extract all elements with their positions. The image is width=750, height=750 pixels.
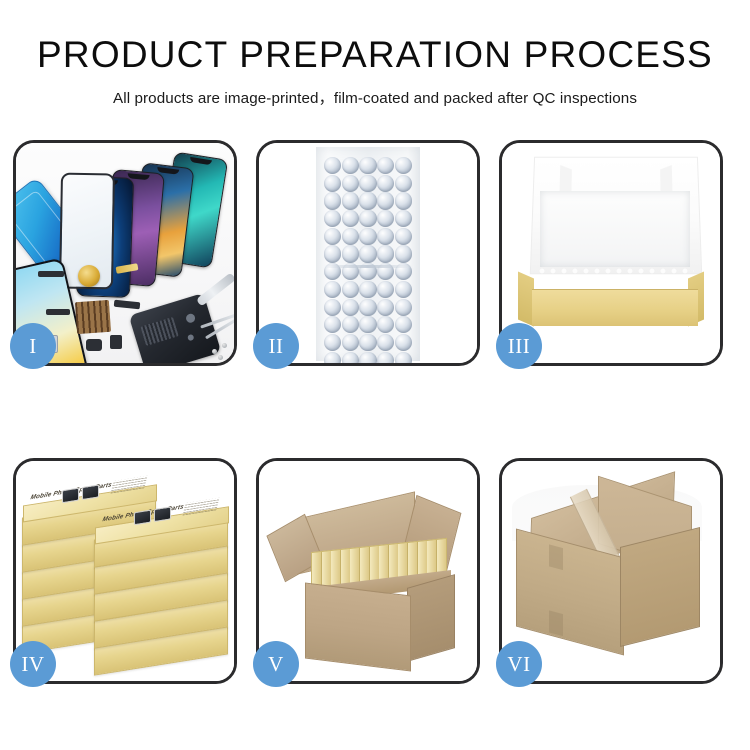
bubble-cell <box>342 192 359 209</box>
bubble-cell <box>359 245 376 262</box>
bubble-cell <box>342 299 359 316</box>
bubble-cell <box>359 316 376 333</box>
page-subtitle: All products are image-printed，film-coat… <box>0 86 750 108</box>
bubble-cell <box>377 210 394 227</box>
bubble-cell <box>377 352 394 363</box>
box-artwork-screen-1 <box>62 488 79 504</box>
bubble-cell <box>342 352 359 363</box>
carton-seam-bottom <box>549 610 563 636</box>
bubble-cell <box>395 157 412 174</box>
bubble-cell <box>359 334 376 351</box>
screw-1-icon <box>212 349 217 354</box>
page-title: PRODUCT PREPARATION PROCESS <box>0 36 750 75</box>
bubble-cell <box>324 316 341 333</box>
step-panel-4: Mobile Phone Spare PartsMobile Phone Spa… <box>13 458 237 684</box>
bubble-cell <box>359 157 376 174</box>
box-stack: Mobile Phone Spare PartsMobile Phone Spa… <box>20 473 234 673</box>
step-panel-5: V <box>256 458 480 684</box>
bubble-field <box>324 157 412 353</box>
bubble-cell <box>395 210 412 227</box>
bubble-cell <box>342 210 359 227</box>
step-badge-2: II <box>253 323 299 369</box>
bubble-cell <box>359 299 376 316</box>
bubble-cell <box>324 228 341 245</box>
bubble-cell <box>359 228 376 245</box>
flex-cable-4-icon <box>114 300 141 310</box>
box-artwork-screen-2 <box>154 506 171 522</box>
bubble-cell <box>359 192 376 209</box>
bubble-cell <box>342 228 359 245</box>
bubble-cell <box>359 352 376 363</box>
bubble-cell <box>395 299 412 316</box>
bubble-cell <box>359 175 376 192</box>
bubble-cell <box>377 299 394 316</box>
bubble-cell <box>395 316 412 333</box>
bubble-cell <box>324 157 341 174</box>
pouch-seam <box>322 265 414 268</box>
flex-cable-1-icon <box>38 271 64 277</box>
coil-part-icon <box>78 265 100 287</box>
bubble-cell <box>324 175 341 192</box>
bubble-cell <box>395 175 412 192</box>
bubble-cell <box>342 334 359 351</box>
step-panel-2: II <box>256 140 480 366</box>
bubble-cell <box>324 210 341 227</box>
screw-2-icon <box>222 343 227 348</box>
bubble-cell <box>324 192 341 209</box>
step-badge-5: V <box>253 641 299 687</box>
bubble-cell <box>324 299 341 316</box>
step-badge-4: IV <box>10 641 56 687</box>
bubble-cell <box>395 245 412 262</box>
bubble-cell <box>342 157 359 174</box>
box-artwork-screen-1 <box>134 510 151 526</box>
step-badge-1: I <box>10 323 56 369</box>
bubble-cell <box>324 281 341 298</box>
box-artwork-screen-2 <box>82 484 99 500</box>
speaker-part-icon <box>86 339 102 351</box>
bubble-cell <box>395 334 412 351</box>
bubble-cell <box>342 245 359 262</box>
flex-cable-3-icon <box>46 309 70 315</box>
bubble-cell <box>359 210 376 227</box>
box-spec-text <box>183 498 220 516</box>
box-front-panel <box>532 289 698 326</box>
step-badge-6: VI <box>496 641 542 687</box>
bubble-cell <box>377 334 394 351</box>
battery-connector-icon <box>110 335 122 349</box>
step-panel-3: III <box>499 140 723 366</box>
bubble-cell <box>377 157 394 174</box>
step-panel-1: I <box>13 140 237 366</box>
screwdriver-icon <box>196 272 234 306</box>
chip-grid-icon <box>75 300 111 334</box>
bubble-cell <box>395 228 412 245</box>
bubble-cell <box>342 175 359 192</box>
box-spec-text <box>111 476 148 494</box>
bubble-cell <box>342 281 359 298</box>
carton-side-right <box>407 574 455 662</box>
bubble-cell <box>377 192 394 209</box>
bubble-cell <box>395 281 412 298</box>
bubble-wrapped-item <box>536 265 694 291</box>
bubble-cell <box>395 352 412 363</box>
bubble-cell <box>377 245 394 262</box>
bubble-cell <box>324 245 341 262</box>
carton-front-face <box>305 582 411 671</box>
bubble-cell <box>342 316 359 333</box>
screw-3-icon <box>218 355 223 360</box>
bubble-cell <box>359 281 376 298</box>
process-step-grid: I II <box>13 140 737 684</box>
sealed-carton-right <box>620 527 700 647</box>
step-panel-6: VI <box>499 458 723 684</box>
bubble-cell <box>377 316 394 333</box>
bubble-cell <box>395 192 412 209</box>
page-header: PRODUCT PREPARATION PROCESS All products… <box>0 0 750 108</box>
bubble-cell <box>324 352 341 363</box>
bubble-cell <box>377 175 394 192</box>
step-badge-3: III <box>496 323 542 369</box>
carton-seam-top <box>549 544 563 570</box>
foam-sheet <box>540 191 690 267</box>
bubble-cell <box>324 334 341 351</box>
bubble-cell <box>377 281 394 298</box>
bubble-pouch <box>316 147 420 361</box>
bubble-cell <box>377 228 394 245</box>
